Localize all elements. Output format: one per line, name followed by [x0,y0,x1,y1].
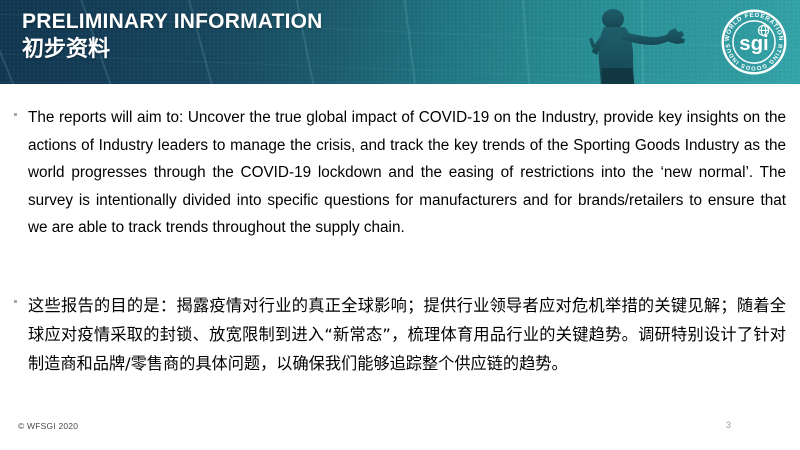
square-bullet-icon [14,291,28,378]
logo-wordmark: sgi [739,33,768,55]
page-title-chinese: 初步资料 [22,36,323,64]
bullet-item-english: The reports will aim to: Uncover the tru… [14,104,786,242]
slide-header: PRELIMINARY INFORMATION 初步资料 WORLD FEDER… [0,0,800,84]
paragraph-chinese: 这些报告的目的是：揭露疫情对行业的真正全球影响；提供行业领导者应对危机举措的关键… [28,291,786,378]
copyright-notice: © WFSGI 2020 [18,421,78,431]
page-title-english: PRELIMINARY INFORMATION [22,9,323,35]
runner-silhouette-image [538,4,708,84]
square-bullet-icon [14,104,28,242]
bullet-item-chinese: 这些报告的目的是：揭露疫情对行业的真正全球影响；提供行业领导者应对危机举措的关键… [14,291,786,378]
slide-footer: © WFSGI 2020 3 [0,414,800,450]
slide-body: The reports will aim to: Uncover the tru… [0,84,800,414]
wfsgi-logo-icon: WORLD FEDERATION SPORTING GOODS INDUSTRY… [720,8,788,76]
page-number: 3 [726,420,731,430]
paragraph-english: The reports will aim to: Uncover the tru… [28,104,786,242]
header-title-group: PRELIMINARY INFORMATION 初步资料 [22,9,323,64]
